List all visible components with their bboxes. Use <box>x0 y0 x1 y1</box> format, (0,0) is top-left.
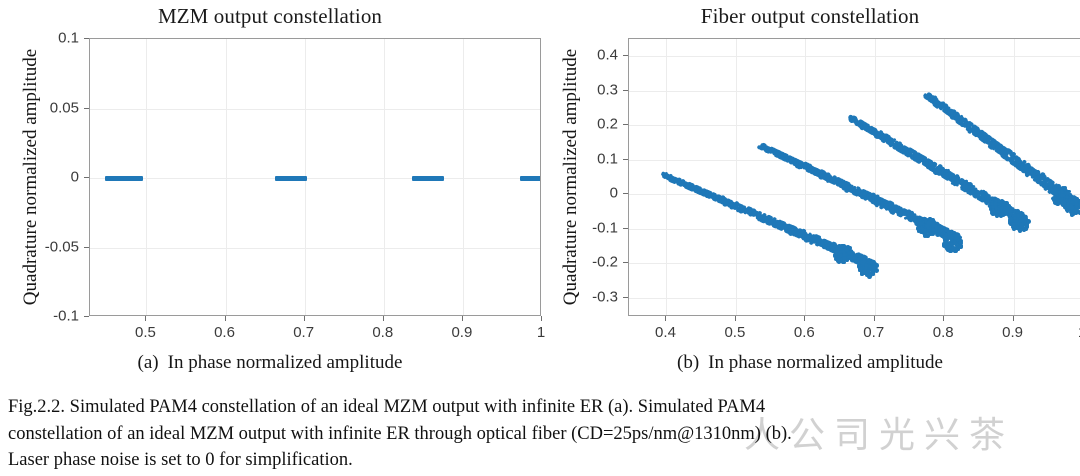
x-axis-label-a: In phase normalized amplitude <box>168 352 403 373</box>
data-blob <box>958 245 962 249</box>
gridline-vertical <box>384 39 385 315</box>
chart-title-a: MZM output constellation <box>0 4 540 29</box>
y-tick-mark <box>84 108 89 109</box>
x-tick-mark <box>145 316 146 321</box>
data-blob <box>916 226 920 230</box>
x-tick-label: 0.7 <box>863 324 884 341</box>
x-tick-label: 0.5 <box>135 324 156 341</box>
data-blob <box>1019 223 1024 228</box>
data-blob <box>994 206 997 209</box>
gridline-vertical <box>805 39 806 315</box>
data-blob <box>863 270 868 275</box>
x-tick-mark <box>1013 316 1014 321</box>
x-tick-label: 0.6 <box>214 324 235 341</box>
data-blob <box>836 258 840 262</box>
gridline-horizontal <box>629 56 1080 57</box>
x-tick-label: 0.4 <box>655 324 676 341</box>
y-tick-label: 0.05 <box>0 99 79 116</box>
x-tick-label: 0.8 <box>933 324 954 341</box>
gridline-horizontal <box>90 109 540 110</box>
y-tick-label: 0 <box>540 185 618 202</box>
x-tick-mark <box>943 316 944 321</box>
x-axis-title-a: (a)In phase normalized amplitude <box>0 352 540 374</box>
y-tick-mark <box>623 159 628 160</box>
data-blob <box>1069 205 1073 209</box>
y-tick-mark <box>84 38 89 39</box>
data-cluster <box>275 176 307 181</box>
gridline-vertical <box>226 39 227 315</box>
data-blob <box>951 246 956 251</box>
x-tick-mark <box>735 316 736 321</box>
y-tick-mark <box>84 316 89 317</box>
y-tick-label: -0.3 <box>540 289 618 306</box>
x-tick-mark <box>665 316 666 321</box>
data-blob <box>842 257 847 262</box>
data-blob <box>1065 208 1069 212</box>
x-tick-mark <box>225 316 226 321</box>
data-blob <box>1060 193 1065 198</box>
gridline-vertical <box>146 39 147 315</box>
gridline-horizontal <box>629 91 1080 92</box>
data-cluster <box>520 176 541 181</box>
data-blob <box>1002 203 1005 206</box>
data-blob <box>1004 212 1007 215</box>
data-blob <box>1066 191 1070 195</box>
y-tick-label: 0.1 <box>540 150 618 167</box>
data-blob <box>1012 222 1015 225</box>
gridline-vertical <box>875 39 876 315</box>
panel-tag-b: (b) <box>677 352 699 373</box>
caption-line-2: constellation of an ideal MZM output wit… <box>8 421 1072 448</box>
x-tick-mark <box>304 316 305 321</box>
panel-tag-a: (a) <box>138 352 159 373</box>
x-tick-label: 0.6 <box>794 324 815 341</box>
data-blob <box>954 233 959 238</box>
x-tick-label: 0.5 <box>724 324 745 341</box>
x-tick-label: 0.7 <box>293 324 314 341</box>
figure-2-2: MZM output constellation Quadrature norm… <box>0 0 1080 476</box>
chart-title-b: Fiber output constellation <box>540 4 1080 29</box>
gridline-horizontal <box>90 178 540 179</box>
data-cluster <box>105 176 143 181</box>
data-blob <box>1073 208 1078 213</box>
gridline-vertical <box>1014 39 1015 315</box>
x-tick-label: 0.9 <box>1002 324 1023 341</box>
x-tick-mark <box>462 316 463 321</box>
plot-area-a <box>89 38 541 316</box>
data-blob <box>1025 223 1029 227</box>
x-tick-mark <box>383 316 384 321</box>
data-blob <box>1018 229 1022 233</box>
gridline-vertical <box>736 39 737 315</box>
y-tick-mark <box>623 193 628 194</box>
caption-line-1: Fig.2.2. Simulated PAM4 constellation of… <box>8 394 1072 421</box>
y-tick-label: -0.1 <box>540 219 618 236</box>
x-axis-label-b: In phase normalized amplitude <box>708 352 943 373</box>
data-blob <box>951 239 954 242</box>
chart-panel-a: MZM output constellation Quadrature norm… <box>0 0 540 390</box>
x-tick-mark <box>874 316 875 321</box>
y-tick-mark <box>623 124 628 125</box>
data-blob <box>1024 227 1028 231</box>
y-tick-label: 0.4 <box>540 47 618 64</box>
chart-panel-b: Fiber output constellation Quadrature no… <box>540 0 1080 390</box>
x-tick-label: 0.8 <box>372 324 393 341</box>
y-tick-mark <box>623 262 628 263</box>
gridline-horizontal <box>90 248 540 249</box>
data-blob <box>844 247 849 252</box>
data-blob <box>919 221 924 226</box>
y-tick-mark <box>84 177 89 178</box>
x-tick-mark <box>804 316 805 321</box>
plot-area-b <box>628 38 1080 316</box>
y-tick-mark <box>623 228 628 229</box>
y-tick-label: -0.05 <box>0 238 79 255</box>
data-blob <box>839 254 843 258</box>
y-tick-label: 0 <box>0 169 79 186</box>
y-tick-label: 0.1 <box>0 30 79 47</box>
gridline-vertical <box>463 39 464 315</box>
gridline-horizontal <box>629 298 1080 299</box>
y-tick-mark <box>623 297 628 298</box>
figure-caption: Fig.2.2. Simulated PAM4 constellation of… <box>8 394 1072 474</box>
data-blob <box>1054 196 1057 199</box>
y-axis-title-b: Quadrature normalized amplitude <box>560 38 582 316</box>
y-tick-mark <box>623 55 628 56</box>
x-tick-label: 0.9 <box>451 324 472 341</box>
x-axis-title-b: (b)In phase normalized amplitude <box>540 352 1080 374</box>
data-cluster <box>412 176 444 181</box>
data-blob <box>834 249 838 253</box>
data-blob <box>1070 200 1074 204</box>
data-blob <box>862 259 865 262</box>
y-tick-label: -0.1 <box>0 308 79 325</box>
y-tick-mark <box>623 90 628 91</box>
y-tick-mark <box>84 247 89 248</box>
y-tick-label: 0.3 <box>540 81 618 98</box>
y-tick-label: -0.2 <box>540 254 618 271</box>
y-tick-label: 0.2 <box>540 116 618 133</box>
caption-line-3: Laser phase noise is set to 0 for simpli… <box>8 447 1072 474</box>
